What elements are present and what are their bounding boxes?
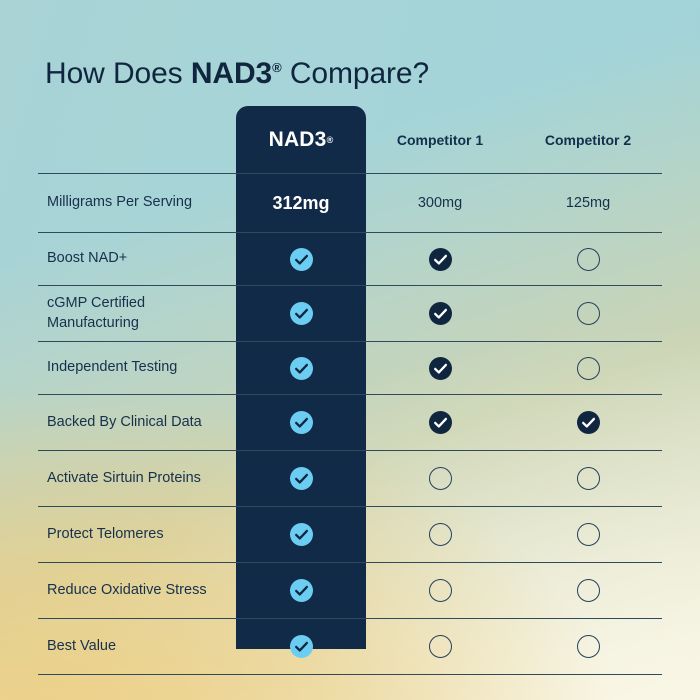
row-label: Backed By Clinical Data bbox=[38, 395, 236, 450]
table-row: Milligrams Per Serving 312mg 300mg 125mg bbox=[38, 173, 662, 232]
title-suffix: Compare? bbox=[282, 57, 430, 90]
row-label: Protect Telomeres bbox=[38, 507, 236, 562]
empty-circle-icon bbox=[577, 357, 600, 380]
cell-competitor-1: 300mg bbox=[366, 174, 514, 232]
empty-circle-icon bbox=[577, 579, 600, 602]
registered-trademark-icon: ® bbox=[272, 60, 281, 75]
cell-competitor-2 bbox=[514, 619, 662, 674]
check-circle-icon bbox=[290, 357, 313, 380]
check-circle-icon bbox=[290, 248, 313, 271]
cell-competitor-2 bbox=[514, 507, 662, 562]
page-title: How Does NAD3® Compare? bbox=[45, 56, 429, 92]
header-competitor-2: Competitor 2 bbox=[514, 106, 662, 173]
cell-competitor-2 bbox=[514, 563, 662, 618]
empty-circle-icon bbox=[429, 579, 452, 602]
table-header-row: NAD3® Competitor 1 Competitor 2 bbox=[38, 106, 662, 173]
cell-nad3 bbox=[236, 395, 366, 450]
row-label: Boost NAD+ bbox=[38, 233, 236, 285]
cell-competitor-2 bbox=[514, 451, 662, 506]
cell-competitor-1 bbox=[366, 507, 514, 562]
table-row: Best Value bbox=[38, 618, 662, 675]
cell-competitor-1 bbox=[366, 395, 514, 450]
cell-competitor-1 bbox=[366, 451, 514, 506]
row-label: Independent Testing bbox=[38, 342, 236, 394]
registered-trademark-icon: ® bbox=[327, 135, 334, 145]
empty-circle-icon bbox=[577, 635, 600, 658]
check-circle-icon bbox=[290, 579, 313, 602]
row-label: Reduce Oxidative Stress bbox=[38, 563, 236, 618]
row-label: Milligrams Per Serving bbox=[38, 174, 236, 232]
check-circle-icon bbox=[577, 411, 600, 434]
header-feature-column bbox=[38, 106, 236, 173]
cell-competitor-1 bbox=[366, 286, 514, 341]
cell-competitor-2 bbox=[514, 395, 662, 450]
check-circle-icon bbox=[290, 635, 313, 658]
cell-competitor-1 bbox=[366, 342, 514, 394]
empty-circle-icon bbox=[429, 635, 452, 658]
empty-circle-icon bbox=[577, 523, 600, 546]
row-label: Activate Sirtuin Proteins bbox=[38, 451, 236, 506]
cell-competitor-2 bbox=[514, 233, 662, 285]
cell-nad3 bbox=[236, 507, 366, 562]
check-circle-icon bbox=[429, 248, 452, 271]
check-circle-icon bbox=[429, 411, 452, 434]
cell-competitor-2 bbox=[514, 342, 662, 394]
cell-nad3 bbox=[236, 619, 366, 674]
cell-competitor-1 bbox=[366, 619, 514, 674]
cell-competitor-2 bbox=[514, 286, 662, 341]
check-circle-icon bbox=[429, 357, 452, 380]
check-circle-icon bbox=[290, 467, 313, 490]
header-nad3-label: NAD3 bbox=[269, 128, 327, 152]
empty-circle-icon bbox=[577, 302, 600, 325]
cell-nad3 bbox=[236, 342, 366, 394]
cell-nad3 bbox=[236, 233, 366, 285]
comparison-infographic: How Does NAD3® Compare? NAD3® Competitor… bbox=[0, 0, 700, 700]
empty-circle-icon bbox=[429, 467, 452, 490]
cell-nad3 bbox=[236, 563, 366, 618]
title-prefix: How Does bbox=[45, 57, 191, 90]
header-nad3: NAD3® bbox=[236, 106, 366, 173]
cell-competitor-1 bbox=[366, 563, 514, 618]
cell-nad3 bbox=[236, 451, 366, 506]
table-row: Activate Sirtuin Proteins bbox=[38, 450, 662, 506]
empty-circle-icon bbox=[577, 467, 600, 490]
check-circle-icon bbox=[429, 302, 452, 325]
table-row: Protect Telomeres bbox=[38, 506, 662, 562]
table-row: Reduce Oxidative Stress bbox=[38, 562, 662, 618]
row-label: cGMP Certified Manufacturing bbox=[38, 286, 236, 341]
title-brand: NAD3 bbox=[191, 57, 272, 90]
check-circle-icon bbox=[290, 302, 313, 325]
cell-competitor-1 bbox=[366, 233, 514, 285]
table-row: Backed By Clinical Data bbox=[38, 394, 662, 450]
table-row: Independent Testing bbox=[38, 341, 662, 394]
cell-nad3: 312mg bbox=[236, 174, 366, 232]
empty-circle-icon bbox=[577, 248, 600, 271]
row-label: Best Value bbox=[38, 619, 236, 674]
table-row: cGMP Certified Manufacturing bbox=[38, 285, 662, 341]
empty-circle-icon bbox=[429, 523, 452, 546]
header-competitor-1: Competitor 1 bbox=[366, 106, 514, 173]
comparison-table: NAD3® Competitor 1 Competitor 2 Milligra… bbox=[38, 106, 662, 675]
check-circle-icon bbox=[290, 523, 313, 546]
table-row: Boost NAD+ bbox=[38, 232, 662, 285]
cell-nad3 bbox=[236, 286, 366, 341]
cell-competitor-2: 125mg bbox=[514, 174, 662, 232]
check-circle-icon bbox=[290, 411, 313, 434]
